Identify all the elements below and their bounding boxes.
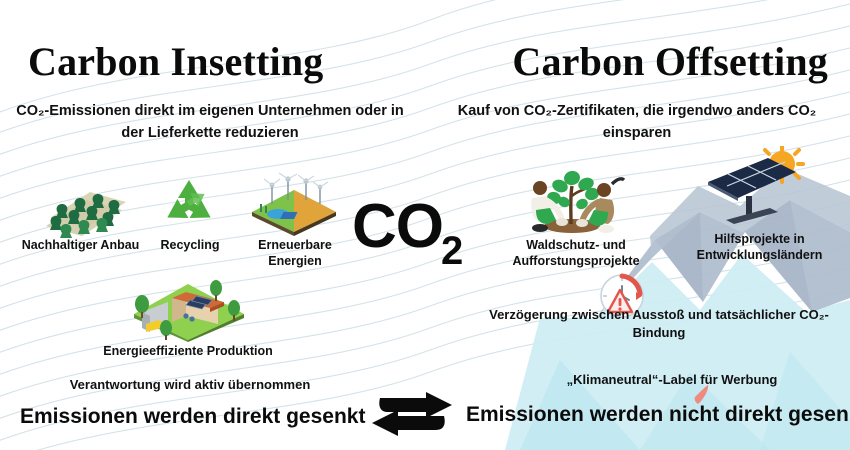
icon-label-forest-projects: Waldschutz- und Aufforstungsprojekte: [496, 238, 656, 269]
eco-house-icon: [128, 272, 248, 342]
solar-panel-icon: [700, 146, 810, 232]
verdict-left: Emissionen werden direkt gesenkt: [20, 405, 360, 429]
swap-arrows-icon: [360, 392, 464, 438]
icon-label-renewable-energy: Erneuerbare Energien: [240, 238, 350, 269]
co2-subscript: 2: [441, 229, 462, 273]
infographic-canvas: Carbon Insetting CO₂-Emissionen direkt i…: [0, 0, 850, 450]
statement-right: „Klimaneutral“-Label für Werbung: [512, 372, 832, 389]
co2-center-label: CO2: [352, 196, 462, 271]
page-title-right: Carbon Offsetting: [512, 38, 828, 85]
statement-left: Verantwortung wird aktiv übernommen: [30, 377, 350, 394]
icon-label-delay-binding: Verzögerung zwischen Ausstoß und tatsäch…: [478, 306, 840, 341]
page-title-left: Carbon Insetting: [28, 38, 323, 85]
icon-label-development-projects: Hilfsprojekte in Entwicklungsländern: [672, 232, 847, 263]
subtitle-left: CO₂-Emissionen direkt im eigenen Unterne…: [10, 100, 410, 145]
icon-label-energy-efficient-production: Energieeffiziente Produktion: [78, 344, 298, 360]
verdict-right: Emissionen werden nicht direkt gesenkt: [466, 403, 846, 427]
crop-rows-icon: [38, 178, 138, 240]
renewable-energy-icon: [248, 170, 340, 236]
tree-planting-icon: [516, 162, 628, 234]
icon-label-sustainable-farming: Nachhaltiger Anbau: [18, 238, 143, 254]
co2-text: CO: [352, 192, 443, 261]
subtitle-right: Kauf von CO₂-Zertifikaten, die irgendwo …: [437, 100, 837, 145]
icon-label-recycling: Recycling: [140, 238, 240, 254]
recycling-icon: [158, 177, 220, 237]
